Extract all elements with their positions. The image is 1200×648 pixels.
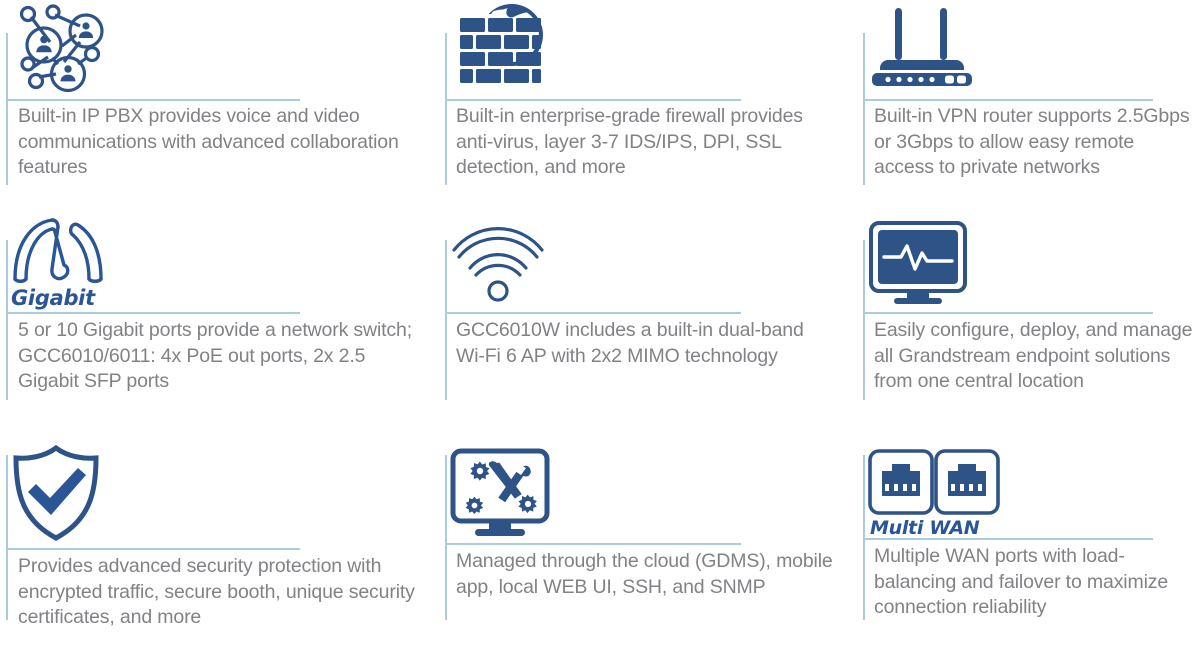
horizontal-rule bbox=[863, 99, 1153, 101]
feature-caption: Built-in VPN router supports 2.5Gbps or … bbox=[874, 104, 1198, 181]
feature-cell-multi-wan: Multi WAN Multiple WAN ports with load-b… bbox=[840, 430, 1200, 648]
vertical-rule bbox=[863, 33, 865, 185]
icon-container bbox=[450, 212, 550, 304]
horizontal-rule bbox=[6, 99, 300, 101]
vertical-rule bbox=[445, 455, 447, 620]
horizontal-rule bbox=[445, 312, 741, 314]
wireless-router-icon bbox=[868, 2, 980, 94]
vertical-rule bbox=[445, 33, 447, 185]
icon-container: Gigabit bbox=[10, 204, 106, 309]
icon-container bbox=[868, 2, 980, 94]
feature-caption: Provides advanced security protection wi… bbox=[18, 554, 416, 631]
vertical-rule bbox=[863, 240, 865, 400]
feature-caption: Multiple WAN ports with load-balancing a… bbox=[874, 544, 1198, 621]
monitor-heartbeat-icon bbox=[868, 220, 968, 306]
shield-check-icon bbox=[10, 444, 102, 542]
feature-cell-firewall: Built-in enterprise-grade firewall provi… bbox=[420, 0, 840, 200]
feature-cell-gigabit-ports: Gigabit 5 or 10 Gigabit ports provide a … bbox=[0, 200, 420, 430]
horizontal-rule bbox=[863, 312, 1153, 314]
horizontal-rule bbox=[445, 543, 741, 545]
firewall-brickwall-globe-icon bbox=[450, 2, 550, 94]
feature-caption: GCC6010W includes a built-in dual-band W… bbox=[456, 318, 836, 369]
vertical-rule bbox=[6, 240, 8, 400]
feature-cell-central-management: Easily configure, deploy, and manage all… bbox=[840, 200, 1200, 430]
feature-caption: 5 or 10 Gigabit ports provide a network … bbox=[18, 318, 416, 395]
horizontal-rule bbox=[6, 548, 300, 550]
feature-caption: Built-in enterprise-grade firewall provi… bbox=[456, 104, 836, 181]
feature-caption: Easily configure, deploy, and manage all… bbox=[874, 318, 1198, 395]
horizontal-rule bbox=[6, 312, 300, 314]
vertical-rule bbox=[445, 240, 447, 400]
feature-cell-wifi-6-ap: GCC6010W includes a built-in dual-band W… bbox=[420, 200, 840, 430]
horizontal-rule bbox=[445, 99, 741, 101]
icon-container bbox=[450, 2, 550, 94]
icon-container bbox=[450, 442, 550, 538]
feature-caption: Managed through the cloud (GDMS), mobile… bbox=[456, 549, 836, 600]
icon-container bbox=[10, 438, 102, 542]
icon-container: Multi WAN bbox=[868, 442, 1000, 538]
network-users-icon bbox=[8, 2, 108, 94]
multi-wan-wordmark: Multi WAN bbox=[870, 519, 979, 538]
icon-container bbox=[8, 2, 108, 94]
feature-cell-cloud-management: Managed through the cloud (GDMS), mobile… bbox=[420, 430, 840, 648]
gigabit-ethernet-logo-icon bbox=[10, 213, 106, 285]
wifi-signal-icon bbox=[450, 224, 550, 304]
vertical-rule bbox=[6, 455, 8, 620]
dual-rj45-ports-icon bbox=[868, 449, 1000, 517]
feature-caption: Built-in IP PBX provides voice and video… bbox=[18, 104, 416, 181]
feature-cell-security: Provides advanced security protection wi… bbox=[0, 430, 420, 648]
features-grid: Built-in IP PBX provides voice and video… bbox=[0, 0, 1200, 648]
monitor-tools-gears-icon bbox=[450, 448, 550, 538]
gigabit-wordmark: Gigabit bbox=[11, 288, 95, 309]
feature-cell-ip-pbx: Built-in IP PBX provides voice and video… bbox=[0, 0, 420, 200]
feature-cell-vpn-router: Built-in VPN router supports 2.5Gbps or … bbox=[840, 0, 1200, 200]
icon-container bbox=[868, 210, 968, 306]
